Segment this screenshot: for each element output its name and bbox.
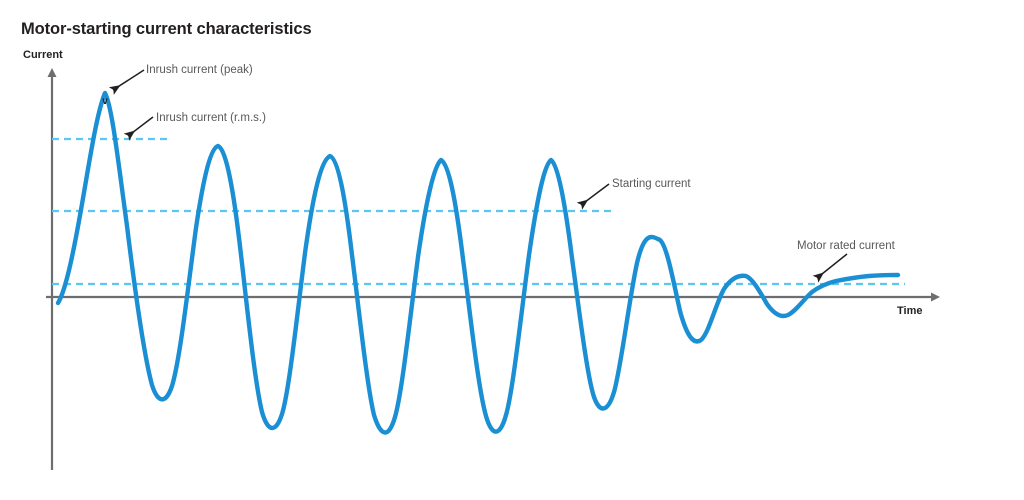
callout-arrow-starting-current: [581, 184, 609, 205]
peak-vertex-marker: v: [102, 96, 108, 107]
current-waveform: [58, 93, 898, 433]
callout-arrow-motor-rated-current: [817, 254, 847, 278]
chart-figure: Motor-starting current characteristics C…: [0, 0, 1024, 500]
chart-canvas: v: [0, 0, 1024, 500]
callout-arrow-inrush-rms: [128, 117, 153, 136]
callout-arrow-inrush-peak: [113, 70, 144, 90]
